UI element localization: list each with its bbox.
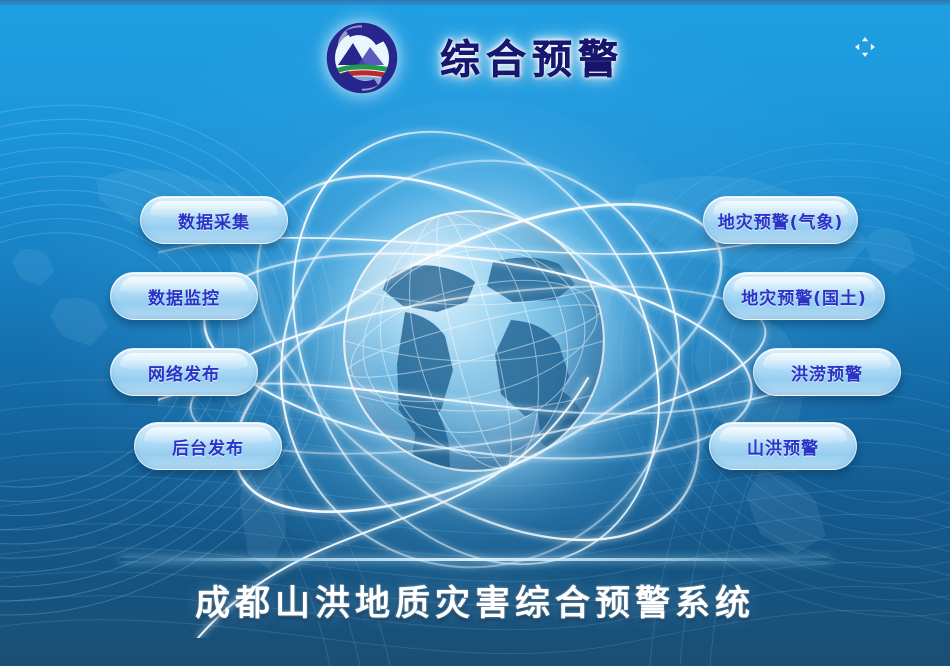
menu-button-flood-warning[interactable]: 洪涝预警	[753, 348, 901, 396]
app-header: 综合预警	[0, 8, 950, 108]
globe-glow	[218, 98, 728, 608]
menu-button-label: 地灾预警(气象)	[718, 208, 844, 233]
menu-button-data-monitoring[interactable]: 数据监控	[110, 272, 258, 320]
menu-button-label: 后台发布	[172, 434, 244, 459]
application-root: 综合预警 数据采集 数据监控 网络发布 后台发布 地灾预警(气象) 地灾预警(国…	[0, 0, 950, 666]
menu-button-geo-disaster-warning-meteorology[interactable]: 地灾预警(气象)	[703, 196, 858, 244]
globe-hero	[288, 168, 658, 538]
menu-button-label: 地灾预警(国土)	[741, 284, 867, 309]
menu-button-backend-publish[interactable]: 后台发布	[134, 422, 282, 470]
menu-button-label: 数据监控	[148, 284, 220, 309]
menu-button-label: 数据采集	[178, 208, 250, 233]
menu-button-data-collection[interactable]: 数据采集	[140, 196, 288, 244]
footer-divider	[120, 558, 830, 561]
window-top-strip	[0, 0, 950, 5]
globe-icon	[343, 210, 605, 472]
move-four-arrows-icon[interactable]	[854, 36, 876, 58]
system-title: 成都山洪地质灾害综合预警系统	[0, 575, 950, 626]
background-arc-pattern-left	[0, 60, 360, 620]
agency-emblem-logo-icon	[326, 21, 398, 95]
menu-button-label: 山洪预警	[747, 434, 819, 459]
menu-button-label: 洪涝预警	[791, 360, 863, 385]
menu-button-label: 网络发布	[148, 360, 220, 385]
menu-button-geo-disaster-warning-land[interactable]: 地灾预警(国土)	[723, 272, 885, 320]
page-title: 综合预警	[440, 27, 624, 89]
menu-button-web-publish[interactable]: 网络发布	[110, 348, 258, 396]
menu-button-mountain-flood-warning[interactable]: 山洪预警	[709, 422, 857, 470]
